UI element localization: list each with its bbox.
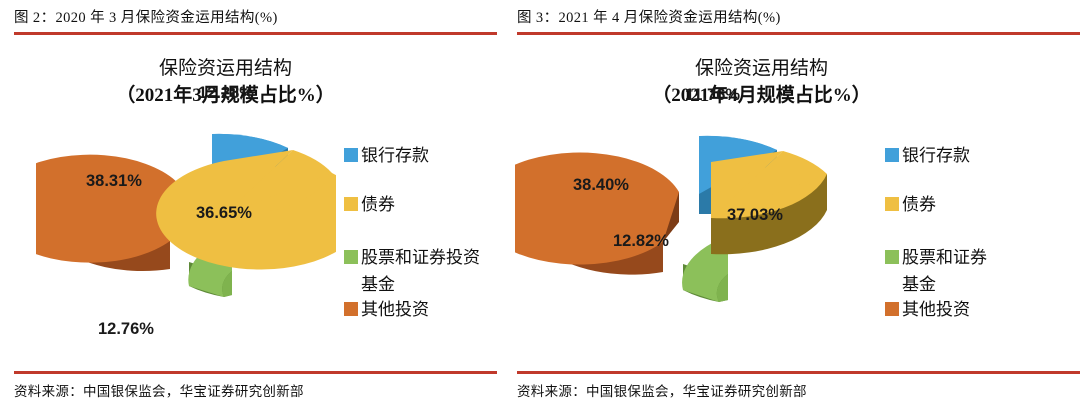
legend-item-other[interactable]: 其他投资 (885, 298, 1080, 321)
data-label-bond: 37.03% (727, 206, 783, 225)
legend-swatch-stock (344, 250, 358, 264)
legend-item-stock[interactable]: 股票和证券 (885, 246, 1080, 269)
legend-item-bank[interactable]: 银行存款 (885, 144, 1080, 167)
figure-caption: 图 3：2021 年 4 月保险资金运用结构(%) (517, 8, 1074, 28)
chart-title: 保险资运用结构 （2021年4月规模占比%） (503, 56, 1080, 110)
figure-panel-2: 图 2：2020 年 3 月保险资金运用结构(%) 保险资运用结构 （2021年… (0, 0, 497, 407)
chart-area-2: 保险资运用结构 （2021年3月规模占比%） (0, 40, 497, 365)
legend-label-stock: 股票和证券投资 (361, 246, 480, 269)
legend-swatch-bank (885, 148, 899, 162)
figure-caption: 图 2：2020 年 3 月保险资金运用结构(%) (14, 8, 491, 28)
source-note: 资料来源：中国银保监会，华宝证券研究创新部 (517, 380, 807, 400)
legend-swatch-other (885, 302, 899, 316)
legend-label-stock-continued: 基金 (902, 273, 936, 296)
legend-item-bond[interactable]: 债券 (885, 193, 1080, 216)
legend-swatch-spacer (885, 277, 899, 291)
data-label-stock: 12.76% (98, 320, 154, 339)
legend-label-stock-continued: 基金 (361, 273, 395, 296)
chart-title-line-2: （2021年4月规模占比%） (503, 82, 1020, 110)
legend-swatch-other (344, 302, 358, 316)
legend-swatch-bond (885, 197, 899, 211)
pie-chart-2: 12.28% 36.65% 12.76% 38.31% (36, 114, 336, 334)
source-note: 资料来源：中国银保监会，华宝证券研究创新部 (14, 380, 304, 400)
legend-3: 银行存款 债券 股票和证券 基金 其他投资 (885, 144, 1080, 321)
legend-label-bond: 债券 (361, 193, 395, 216)
data-label-bank: 12.28% (198, 84, 254, 103)
legend-item-stock[interactable]: 股票和证券投资 (344, 246, 497, 269)
figures-page: 图 2：2020 年 3 月保险资金运用结构(%) 保险资运用结构 （2021年… (0, 0, 1080, 407)
chart-area-3: 保险资运用结构 （2021年4月规模占比%） (503, 40, 1080, 365)
legend-label-bond: 债券 (902, 193, 936, 216)
data-label-other: 38.40% (573, 176, 629, 195)
legend-label-bank: 银行存款 (361, 144, 429, 167)
legend-label-bank: 银行存款 (902, 144, 970, 167)
pie-svg (36, 114, 336, 329)
pie-chart-3: 11.76% 37.03% 12.82% 38.40% (515, 114, 855, 349)
legend-swatch-spacer (344, 277, 358, 291)
legend-swatch-bond (344, 197, 358, 211)
pie-svg (515, 114, 855, 344)
legend-item-bank[interactable]: 银行存款 (344, 144, 497, 167)
data-label-bond: 36.65% (196, 204, 252, 223)
legend-swatch-bank (344, 148, 358, 162)
data-label-other: 38.31% (86, 172, 142, 191)
legend-label-other: 其他投资 (902, 298, 970, 321)
legend-item-stock-line2: 基金 (344, 273, 497, 296)
figure-panel-3: 图 3：2021 年 4 月保险资金运用结构(%) 保险资运用结构 （2021年… (503, 0, 1080, 407)
legend-item-bond[interactable]: 债券 (344, 193, 497, 216)
pie-slice-bond[interactable] (711, 151, 827, 254)
header-rule (14, 32, 497, 35)
data-label-bank: 11.76% (685, 86, 740, 105)
footer-rule (517, 371, 1080, 374)
legend-item-other[interactable]: 其他投资 (344, 298, 497, 321)
legend-swatch-stock (885, 250, 899, 264)
legend-label-stock: 股票和证券 (902, 246, 987, 269)
chart-title-line-1: 保险资运用结构 (0, 56, 451, 82)
pie-slice-other[interactable] (515, 153, 679, 275)
legend-2: 银行存款 债券 股票和证券投资 基金 其他投资 (344, 144, 497, 321)
legend-item-stock-line2: 基金 (885, 273, 1080, 296)
footer-rule (14, 371, 497, 374)
data-label-stock: 12.82% (613, 232, 669, 251)
legend-label-other: 其他投资 (361, 298, 429, 321)
chart-title-line-1: 保险资运用结构 (503, 56, 1020, 82)
header-rule (517, 32, 1080, 35)
